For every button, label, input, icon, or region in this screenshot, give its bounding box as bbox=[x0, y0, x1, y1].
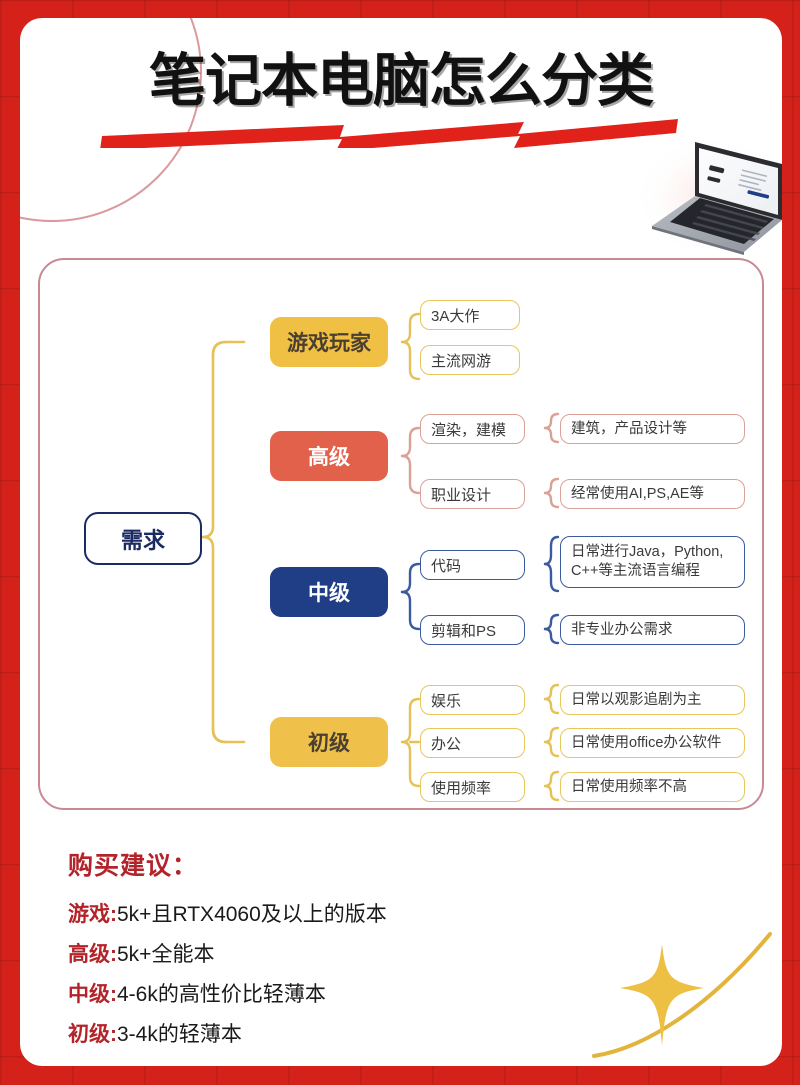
sub-label-online-games: 主流网游 bbox=[431, 350, 491, 371]
advice-title: 购买建议： bbox=[68, 846, 708, 882]
detail-label-ai-ps-ae: 经常使用AI,PS,AE等 bbox=[571, 485, 704, 504]
detail-node-architecture-design[interactable]: 建筑，产品设计等 bbox=[560, 414, 745, 444]
sub-label-office: 办公 bbox=[431, 733, 461, 754]
sparkle-star-icon bbox=[592, 926, 782, 1066]
branch-node-intermediate[interactable]: 中级 bbox=[270, 567, 388, 617]
advice-label-beginner: 初级: bbox=[68, 1023, 117, 1046]
detail-node-ai-ps-ae[interactable]: 经常使用AI,PS,AE等 bbox=[560, 479, 745, 509]
mindmap-container: 需求 游戏玩家 3A大作 主流网游 高级 渲染，建模 建筑，产品设计等 bbox=[38, 258, 764, 810]
detail-label-low-frequency: 日常使用频率不高 bbox=[571, 778, 687, 797]
advice-label-advanced: 高级: bbox=[68, 943, 117, 966]
detail-node-low-frequency[interactable]: 日常使用频率不高 bbox=[560, 772, 745, 802]
laptop-illustration bbox=[632, 126, 782, 258]
white-card: 笔记本电脑怎么分类 bbox=[20, 18, 782, 1066]
detail-label-programming-line2: C++等主流语言编程 bbox=[571, 562, 723, 581]
branch-label-beginner: 初级 bbox=[308, 727, 350, 757]
sub-label-usage-frequency: 使用频率 bbox=[431, 777, 491, 798]
sub-label-code: 代码 bbox=[431, 555, 461, 576]
detail-label-office-software: 日常使用office办公软件 bbox=[571, 734, 721, 753]
page-title: 笔记本电脑怎么分类 bbox=[20, 42, 782, 120]
branch-label-intermediate: 中级 bbox=[308, 577, 350, 607]
sub-node-3a-games[interactable]: 3A大作 bbox=[420, 300, 520, 330]
detail-node-programming[interactable]: 日常进行Java，Python, C++等主流语言编程 bbox=[560, 536, 745, 588]
detail-node-watch-movies[interactable]: 日常以观影追剧为主 bbox=[560, 685, 745, 715]
detail-label-programming-line1: 日常进行Java，Python, bbox=[571, 543, 723, 562]
mindmap-root-node[interactable]: 需求 bbox=[84, 512, 202, 565]
sub-label-editing-ps: 剪辑和PS bbox=[431, 620, 496, 641]
branch-node-beginner[interactable]: 初级 bbox=[270, 717, 388, 767]
advice-value-advanced: 5k+全能本 bbox=[117, 943, 214, 966]
sub-node-code[interactable]: 代码 bbox=[420, 550, 525, 580]
advice-value-intermediate: 4-6k的高性价比轻薄本 bbox=[117, 983, 326, 1006]
sub-node-online-games[interactable]: 主流网游 bbox=[420, 345, 520, 375]
detail-label-nonpro-office: 非专业办公需求 bbox=[571, 621, 673, 640]
sub-node-office[interactable]: 办公 bbox=[420, 728, 525, 758]
sub-label-3a-games: 3A大作 bbox=[431, 305, 479, 326]
sub-label-render-modeling: 渲染，建模 bbox=[431, 419, 506, 440]
advice-value-gaming: 5k+且RTX4060及以上的版本 bbox=[117, 903, 387, 926]
branch-label-gamer: 游戏玩家 bbox=[287, 327, 371, 357]
sub-label-pro-design: 职业设计 bbox=[431, 484, 491, 505]
advice-label-intermediate: 中级: bbox=[68, 983, 117, 1006]
detail-label-watch-movies: 日常以观影追剧为主 bbox=[571, 691, 702, 710]
branch-label-advanced: 高级 bbox=[308, 441, 350, 471]
detail-node-nonpro-office[interactable]: 非专业办公需求 bbox=[560, 615, 745, 645]
sub-node-render-modeling[interactable]: 渲染，建模 bbox=[420, 414, 525, 444]
sub-label-entertainment: 娱乐 bbox=[431, 690, 461, 711]
detail-node-office-software[interactable]: 日常使用office办公软件 bbox=[560, 728, 745, 758]
sub-node-usage-frequency[interactable]: 使用频率 bbox=[420, 772, 525, 802]
branch-node-gamer[interactable]: 游戏玩家 bbox=[270, 317, 388, 367]
sub-node-entertainment[interactable]: 娱乐 bbox=[420, 685, 525, 715]
detail-label-architecture-design: 建筑，产品设计等 bbox=[571, 420, 687, 439]
sub-node-pro-design[interactable]: 职业设计 bbox=[420, 479, 525, 509]
advice-value-beginner: 3-4k的轻薄本 bbox=[117, 1023, 242, 1046]
mindmap-root-label: 需求 bbox=[121, 523, 165, 555]
advice-label-gaming: 游戏: bbox=[68, 903, 117, 926]
branch-node-advanced[interactable]: 高级 bbox=[270, 431, 388, 481]
sub-node-editing-ps[interactable]: 剪辑和PS bbox=[420, 615, 525, 645]
poster-root: 笔记本电脑怎么分类 bbox=[0, 0, 800, 1085]
